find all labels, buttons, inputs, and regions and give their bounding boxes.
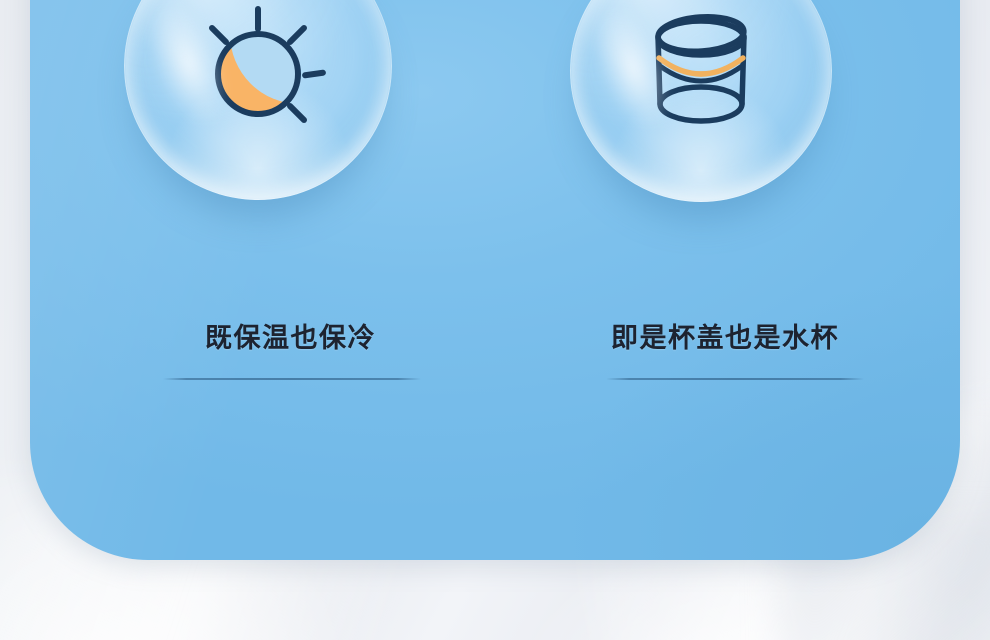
cup-icon-wrapper	[570, 0, 832, 202]
feature-divider-lid-cup	[606, 378, 864, 380]
sun-icon	[183, 0, 333, 141]
blue-feature-panel: 既保温也保冷 即是杯盖也是水杯	[30, 0, 960, 560]
sun-icon-wrapper	[124, 0, 392, 200]
feature-bubble-lid-cup[interactable]	[570, 0, 832, 202]
feature-label-thermal: 既保温也保冷	[205, 316, 376, 355]
product-feature-banner: 既保温也保冷 即是杯盖也是水杯	[0, 0, 990, 640]
feature-divider-thermal	[163, 378, 421, 380]
cup-icon	[626, 0, 776, 146]
feature-bubble-thermal[interactable]	[124, 0, 392, 200]
feature-label-lid-cup: 即是杯盖也是水杯	[611, 316, 839, 355]
